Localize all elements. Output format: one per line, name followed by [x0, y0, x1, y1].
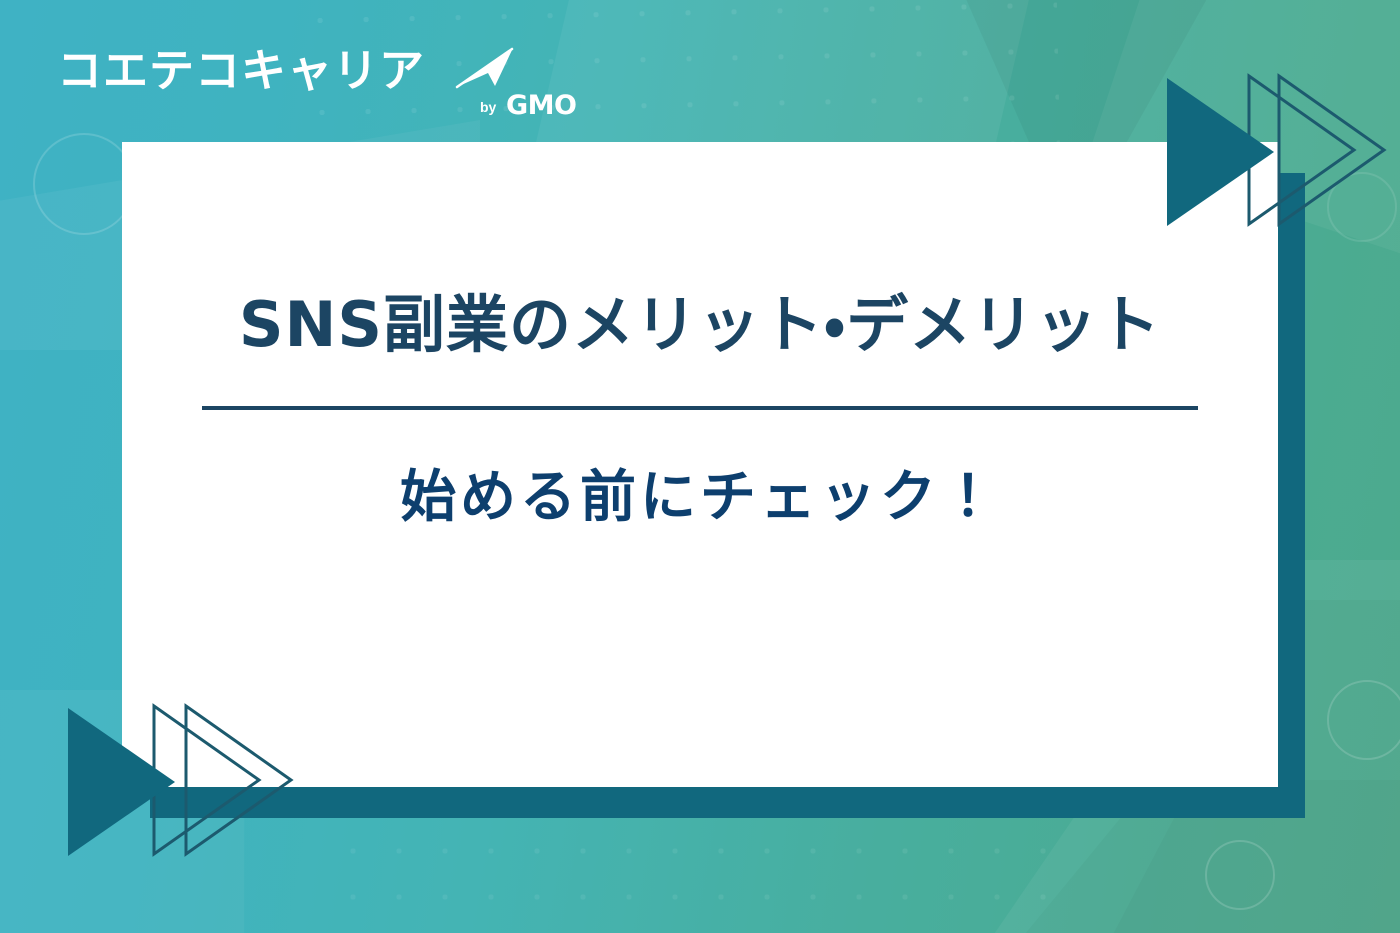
card-offset-border-right [1278, 173, 1305, 818]
brand-logo[interactable]: コエテコキャリア by GMO [57, 44, 537, 120]
thumbnail-canvas: コエテコキャリア by GMO SNS副業のメリット・デメリット 始める前にチェ… [0, 0, 1400, 933]
page-subtitle: 始める前にチェック！ [400, 466, 1000, 530]
circle-outline-icon-bottom-right [1205, 840, 1275, 910]
brand-logo-text: コエテコキャリア [57, 48, 425, 93]
brand-logo-gmo-label: GMO [506, 92, 576, 119]
card-offset-border-bottom [150, 787, 1305, 818]
play-triangle-group-right [1143, 54, 1400, 254]
page-title: SNS副業のメリット・デメリット [239, 289, 1161, 360]
circle-outline-icon-top-left [33, 133, 135, 235]
circle-outline-icon-right [1327, 680, 1400, 760]
play-triangle-group-left [40, 684, 310, 884]
title-divider [202, 406, 1198, 410]
arrow-swoosh-icon [455, 46, 517, 92]
brand-logo-by-label: by [480, 100, 496, 114]
